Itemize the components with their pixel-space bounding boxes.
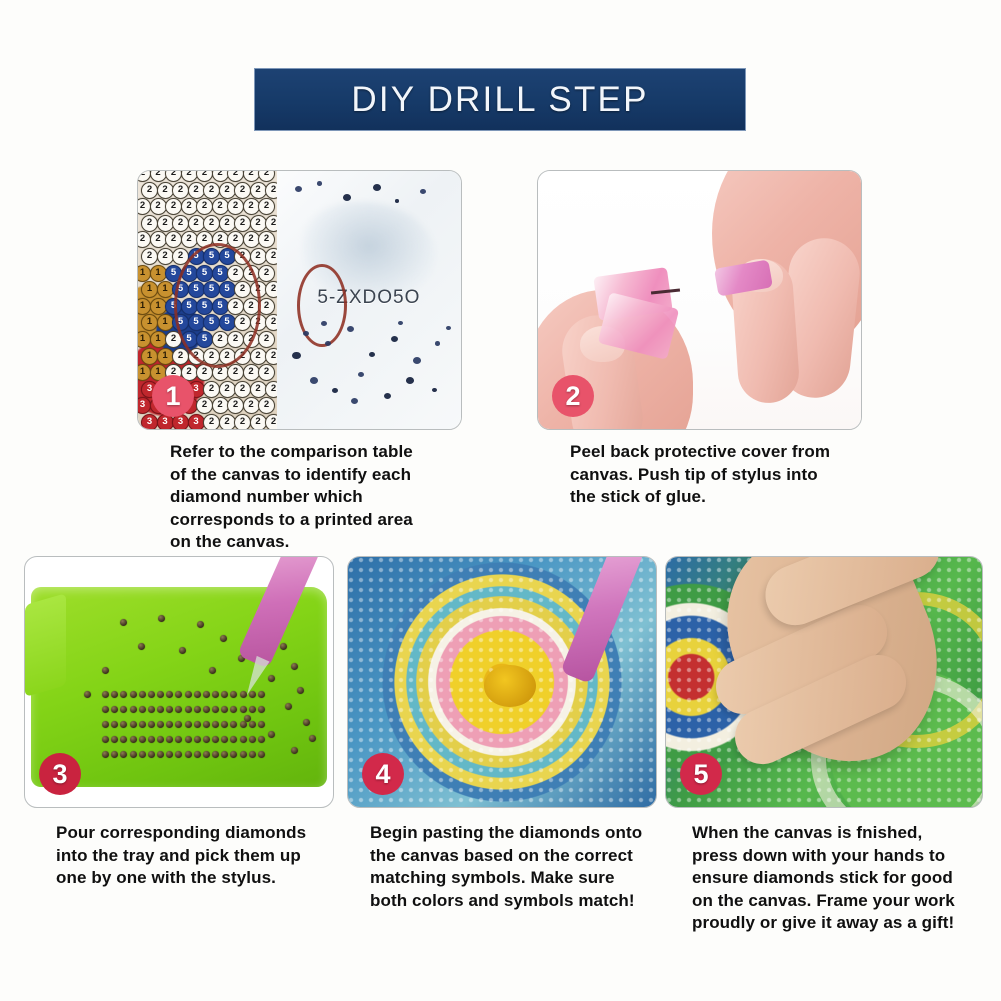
step-1-image: 2222222222222222222222222222222222222222…	[137, 170, 462, 430]
highlight-ellipse-canvas	[174, 243, 261, 368]
step-caption-2: Peel back protective cover from canvas. …	[570, 441, 880, 509]
step-caption-4: Begin pasting the diamonds onto the canv…	[370, 822, 670, 912]
step-badge-1: 1	[152, 375, 194, 417]
step-badge-3: 3	[39, 753, 81, 795]
step-caption-5: When the canvas is fnished, press down w…	[692, 822, 997, 935]
step-badge-2: 2	[552, 375, 594, 417]
step-badge-5: 5	[680, 753, 722, 795]
step-caption-1: Refer to the comparison table of the can…	[170, 441, 470, 554]
step-3-image: 3	[24, 556, 334, 808]
diamond-bag-area: 5-ZXDO5O	[277, 171, 461, 429]
step-5-image: 5	[665, 556, 983, 808]
center-gem	[484, 665, 536, 708]
step-badge-4: 4	[362, 753, 404, 795]
step-4-image: 4	[347, 556, 657, 808]
infographic-sheet: DIY DRILL STEP 2222222222222222222222222…	[0, 0, 1001, 1001]
step-2-image: 2	[537, 170, 862, 430]
page-title: DIY DRILL STEP	[351, 80, 648, 120]
header-banner: DIY DRILL STEP	[254, 68, 746, 131]
step-caption-3: Pour corresponding diamonds into the tra…	[56, 822, 346, 890]
